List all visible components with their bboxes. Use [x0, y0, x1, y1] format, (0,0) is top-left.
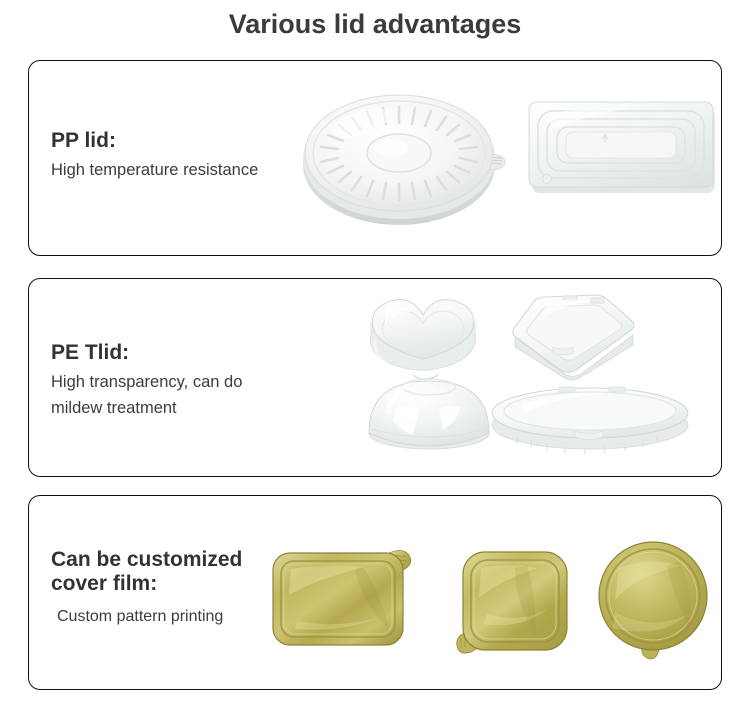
card-pet-lid-heading: PE Tlid: — [51, 341, 242, 365]
card-pet-lid: PE Tlid: High transparency, can do milde… — [28, 278, 722, 477]
card-pet-lid-text-block: PE Tlid: High transparency, can do milde… — [51, 341, 242, 421]
rectangular-gold-foil-lid-image — [267, 541, 427, 656]
oval-pet-lid-image — [487, 375, 697, 453]
card-cover-film-heading: Can be customized cover film: — [51, 548, 242, 595]
card-pp-lid-description: High temperature resistance — [51, 157, 258, 183]
card-pp-lid-text-block: PP lid: High temperature resistance — [51, 129, 258, 183]
card-cover-film-description: Custom pattern printing — [51, 604, 242, 630]
infographic-page: Various lid advantages PP lid: High temp… — [0, 0, 750, 713]
page-title: Various lid advantages — [0, 9, 750, 40]
square-pet-lid-image — [501, 287, 646, 385]
rectangular-pp-lid-image — [516, 83, 722, 228]
round-pp-lid-image — [299, 79, 509, 229]
card-pp-lid-heading: PP lid: — [51, 129, 258, 153]
card-cover-film-text-block: Can be customized cover film: Custom pat… — [51, 548, 242, 630]
square-gold-foil-lid-image — [453, 544, 583, 662]
card-pp-lid: PP lid: High temperature resistance — [28, 60, 722, 256]
dome-pet-lid-image — [359, 367, 499, 453]
card-pet-lid-description: High transparency, can do mildew treatme… — [51, 369, 242, 422]
round-gold-foil-lid-image — [591, 540, 721, 662]
card-cover-film: Can be customized cover film: Custom pat… — [28, 495, 722, 690]
